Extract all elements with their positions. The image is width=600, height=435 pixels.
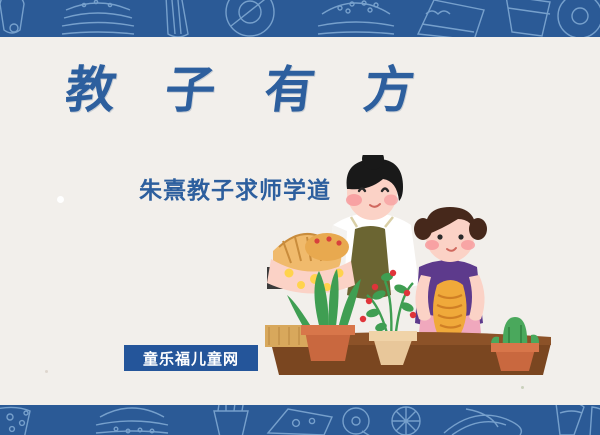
illustration-mother-and-daughter	[255, 155, 600, 380]
bottom-decorative-band	[0, 405, 600, 435]
poster-title: 教 子 有 方	[0, 62, 483, 118]
speck-right	[521, 386, 524, 389]
girl-figure	[414, 207, 487, 337]
speck-left	[45, 370, 48, 373]
poster-canvas: 教 子 有 方 朱熹教子求师学道	[0, 0, 600, 435]
site-badge[interactable]: 童乐福儿童网	[124, 345, 258, 371]
top-decorative-band	[0, 0, 600, 37]
